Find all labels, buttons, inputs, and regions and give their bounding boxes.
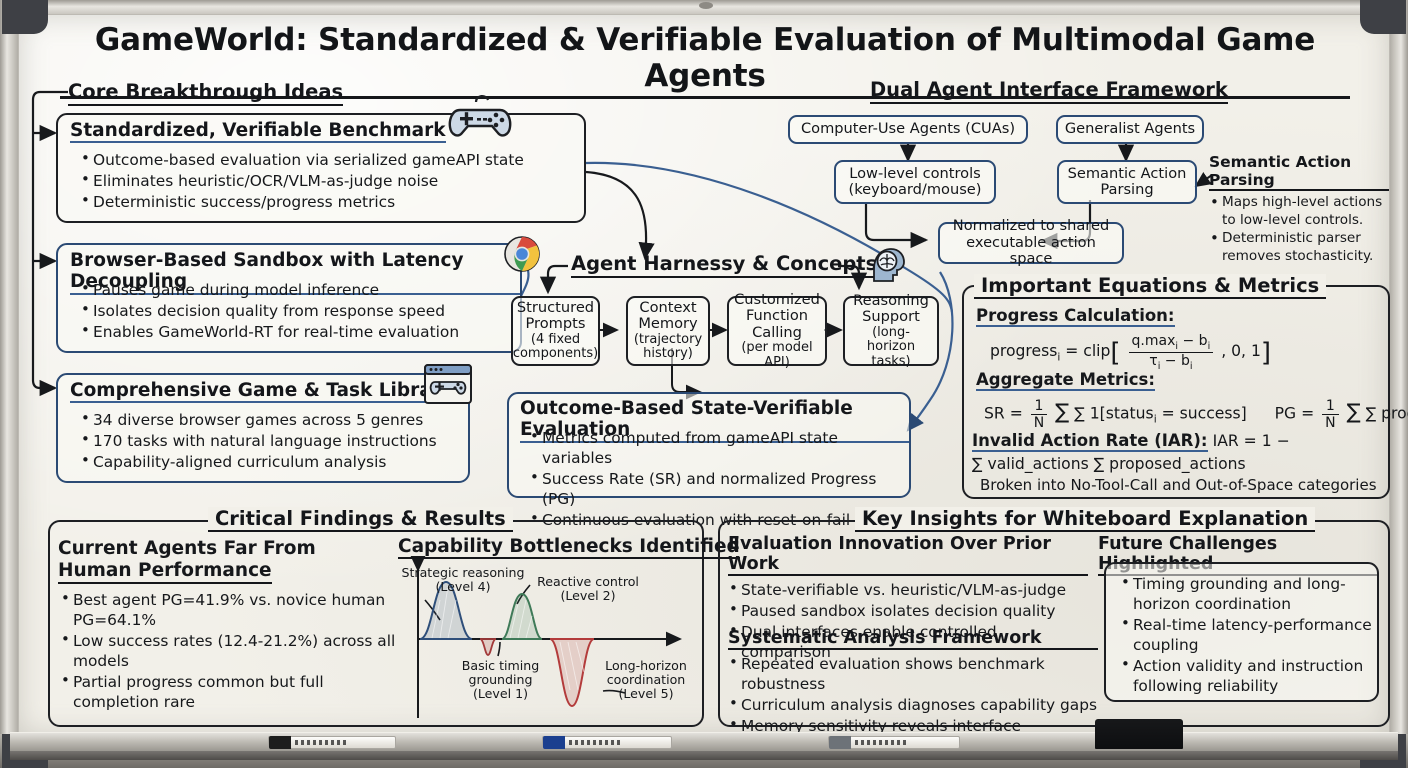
node-line2: Memory xyxy=(638,316,697,332)
gamepad-icon xyxy=(446,92,518,144)
eq-num: ∑ valid_actions xyxy=(972,455,1089,473)
note-heading: Semantic Action Parsing xyxy=(1209,153,1389,191)
eq-tail: , 0, 1 xyxy=(1221,342,1261,360)
eq-clip: = clip xyxy=(1065,342,1110,360)
node-sub2: tasks) xyxy=(871,355,910,370)
list-item: Enables GameWorld-RT for real-time evalu… xyxy=(80,322,520,342)
list-item: Repeated evaluation shows benchmark robu… xyxy=(728,654,1098,694)
section-title-core-ideas: Core Breakthrough Ideas xyxy=(68,80,343,106)
node-sub1: (per model API) xyxy=(735,341,819,370)
eq-fraction-iar: ∑ valid_actions ∑ proposed_actions xyxy=(972,455,1246,473)
list-item: Action validity and instruction followin… xyxy=(1120,656,1378,696)
equations-progress: Progress Calculation: progressi = clip[ … xyxy=(976,306,1271,372)
list-item: Capability-aligned curriculum analysis xyxy=(80,452,470,472)
chart-label-long-horizon: Long-horizon coordination (Level 5) xyxy=(592,659,700,701)
chart-label-basic-timing: Basic timing grounding (Level 1) xyxy=(448,659,553,701)
group-heading: Systematic Analysis Framework xyxy=(728,628,1098,650)
node-sub1: (4 fixed xyxy=(531,333,580,348)
label-line2: coordination xyxy=(607,672,686,687)
list-item: Curriculum analysis diagnoses capability… xyxy=(728,695,1098,715)
node-normalized-action-space: Normalized to shared executable action s… xyxy=(938,222,1124,264)
board-top-clip xyxy=(699,2,713,9)
eq-sub: i xyxy=(1208,341,1211,352)
label-line2: grounding xyxy=(468,672,532,687)
subsection-human-performance: Current Agents Far From Human Performanc… xyxy=(58,538,398,713)
list-item: Low success rates (12.4-21.2%) across al… xyxy=(60,631,405,671)
node-line2: (keyboard/mouse) xyxy=(849,182,982,198)
label-line2: (Level 2) xyxy=(560,588,615,603)
label-line1: Strategic reasoning xyxy=(401,565,524,580)
list-item: Success Rate (SR) and normalized Progres… xyxy=(529,469,909,509)
eq-pg-body: ∑ progress xyxy=(1366,405,1408,423)
list-item: Isolates decision quality from response … xyxy=(80,301,520,321)
marker-label xyxy=(569,740,621,745)
node-line2: Support xyxy=(862,309,920,325)
list-item: Timing grounding and long-horizon coordi… xyxy=(1120,574,1378,614)
heading-line1: Current Agents Far From xyxy=(58,538,316,559)
card-game-task-library: Comprehensive Game & Task Library 34 div… xyxy=(56,373,470,483)
chart-title: Capability Bottlenecks Identified xyxy=(398,536,740,559)
card-outcome-based-evaluation: Outcome-Based State-Verifiable Evaluatio… xyxy=(507,392,911,498)
note-semantic-action-parsing: Semantic Action Parsing Maps high-level … xyxy=(1209,153,1389,267)
section-title-dual-agent: Dual Agent Interface Framework xyxy=(870,78,1228,104)
brain-head-icon xyxy=(866,243,908,285)
eq-num: q.max xyxy=(1132,333,1176,349)
node-line2: Function xyxy=(746,308,808,324)
label-line1: Basic timing xyxy=(462,658,540,673)
eq-den: ∑ proposed_actions xyxy=(1094,455,1246,473)
eq-den: τ xyxy=(1149,353,1157,369)
eq-fraction: q.maxi − bi τi − bi xyxy=(1129,333,1214,372)
list-item: Outcome-based evaluation via serialized … xyxy=(80,150,580,170)
node-line1: Normalized to shared xyxy=(953,218,1109,234)
equations-iar: Invalid Action Rate (IAR): IAR = 1 − ∑ v… xyxy=(972,432,1408,473)
eq-sr-tail: = success] xyxy=(1157,405,1247,423)
node-line1: Low-level controls xyxy=(849,166,981,182)
heading-line2: Human Performance xyxy=(58,560,272,584)
list-item: Real-time latency-performance coupling xyxy=(1120,615,1378,655)
list-item: Deterministic parser removes stochastici… xyxy=(1209,230,1389,265)
group-heading: Evaluation Innovation Over Prior Work xyxy=(728,534,1088,576)
list-item: Pauses game during model inference xyxy=(80,280,520,300)
marker-black[interactable] xyxy=(268,736,396,749)
card-heading: Standardized, Verifiable Benchmark xyxy=(70,120,446,143)
eq-sub: i xyxy=(1057,351,1060,363)
card-browser-sandbox: Browser-Based Sandbox with Latency Decou… xyxy=(56,243,522,353)
node-low-level-controls: Low-level controls (keyboard/mouse) xyxy=(834,160,996,204)
list-item: Metrics computed from gameAPI state vari… xyxy=(529,428,909,468)
card-future-challenges: Timing grounding and long-horizon coordi… xyxy=(1104,562,1379,702)
pen-tray-lip xyxy=(10,751,1398,760)
node-sub2: history) xyxy=(643,347,693,362)
label-line1: Long-horizon xyxy=(605,658,687,673)
eq-den-rest: − b xyxy=(1160,353,1190,369)
node-line2: Parsing xyxy=(1100,182,1153,198)
section-title-key-insights: Key Insights for Whiteboard Explanation xyxy=(855,507,1315,532)
node-context-memory: Context Memory (trajectory history) xyxy=(626,296,710,366)
eq-fraction-1-over-n: 1 N xyxy=(1031,398,1047,431)
eq-fraction-1-over-n-2: 1 N xyxy=(1322,398,1338,431)
label-line2: (Level 4) xyxy=(435,579,490,594)
label-line1: Reactive control xyxy=(537,574,639,589)
marker-gray[interactable] xyxy=(828,736,960,749)
section-title-equations: Important Equations & Metrics xyxy=(974,274,1326,299)
list-item: Partial progress common but full complet… xyxy=(60,672,405,712)
label-line3: (Level 1) xyxy=(473,686,528,701)
list-item: 34 diverse browser games across 5 genres xyxy=(80,410,470,430)
section-title-critical-findings: Critical Findings & Results xyxy=(208,507,513,532)
frame-corner-top-right xyxy=(1360,0,1406,34)
node-line1: Customized xyxy=(734,292,820,308)
node-line1: Context xyxy=(639,300,696,316)
eq-num-rest: − b xyxy=(1178,333,1208,349)
card-heading: Comprehensive Game & Task Library xyxy=(70,380,453,403)
node-line2: Prompts xyxy=(526,316,586,332)
node-cua: Computer-Use Agents (CUAs) xyxy=(788,115,1028,144)
node-line1: Semantic Action xyxy=(1068,166,1187,182)
marker-label xyxy=(855,740,907,745)
chart-label-reactive-control: Reactive control (Level 2) xyxy=(528,575,648,603)
eq-sr-body: ∑ 1[status xyxy=(1074,405,1153,423)
list-item: Deterministic success/progress metrics xyxy=(80,192,580,212)
marker-cap xyxy=(829,736,851,749)
subheading: Aggregate Metrics: xyxy=(976,371,1155,391)
node-customized-function-calling: Customized Function Calling (per model A… xyxy=(727,296,827,366)
node-semantic-action-parsing: Semantic Action Parsing xyxy=(1057,160,1197,204)
node-sub2: components) xyxy=(513,347,598,362)
subheading: Invalid Action Rate (IAR): xyxy=(972,432,1208,452)
list-item: 170 tasks with natural language instruct… xyxy=(80,431,470,451)
list-item: State-verifiable vs. heuristic/VLM-as-ju… xyxy=(728,580,1088,600)
browser-game-window-icon xyxy=(423,363,473,405)
list-item: Eliminates heuristic/OCR/VLM-as-judge no… xyxy=(80,171,580,191)
eq-num: 1 xyxy=(1031,398,1047,415)
node-sub1: (long-horizon xyxy=(851,326,931,355)
equations-aggregate: Aggregate Metrics: SR = 1 N ∑ ∑ 1[status… xyxy=(976,370,1408,431)
marker-label xyxy=(295,740,347,745)
chart-label-strategic-reasoning: Strategic reasoning (Level 4) xyxy=(398,566,528,594)
marker-blue[interactable] xyxy=(542,736,672,749)
node-line1: Structured xyxy=(517,300,594,316)
node-generalist-agents: Generalist Agents xyxy=(1056,115,1204,144)
node-structured-prompts: Structured Prompts (4 fixed components) xyxy=(511,296,600,366)
eq-progress-lhs: progress xyxy=(990,342,1057,360)
node-reasoning-support: Reasoning Support (long-horizon tasks) xyxy=(843,296,939,366)
marker-cap xyxy=(543,736,565,749)
frame-corner-top-left xyxy=(2,0,48,34)
eq-den: N xyxy=(1322,415,1338,431)
whiteboard-eraser[interactable] xyxy=(1095,719,1183,749)
node-line1: Reasoning xyxy=(853,293,929,309)
list-item: Maps high-level actions to low-level con… xyxy=(1209,194,1389,229)
list-item: Best agent PG=41.9% vs. novice human PG=… xyxy=(60,590,405,630)
label-line3: (Level 5) xyxy=(618,686,673,701)
subheading: Progress Calculation: xyxy=(976,307,1175,327)
list-item: Paused sandbox isolates decision quality xyxy=(728,601,1088,621)
node-sub1: (trajectory xyxy=(634,333,702,348)
node-line3: Calling xyxy=(752,325,802,341)
section-title-agent-harness: Agent Harnessy & Concepts xyxy=(571,252,877,278)
frame-edge-left xyxy=(0,0,20,768)
eq-den: N xyxy=(1031,415,1047,431)
node-line2: executable action space xyxy=(946,235,1116,268)
eq-num: 1 xyxy=(1322,398,1338,415)
chrome-icon xyxy=(503,235,541,273)
eq-iar-lhs: IAR = 1 − xyxy=(1213,432,1290,450)
eq-pg-label: PG = xyxy=(1275,405,1319,423)
marker-cap xyxy=(269,736,291,749)
equations-footer: Broken into No-Tool-Call and Out-of-Spac… xyxy=(980,476,1377,494)
eq-sr-label: SR = xyxy=(984,405,1028,423)
